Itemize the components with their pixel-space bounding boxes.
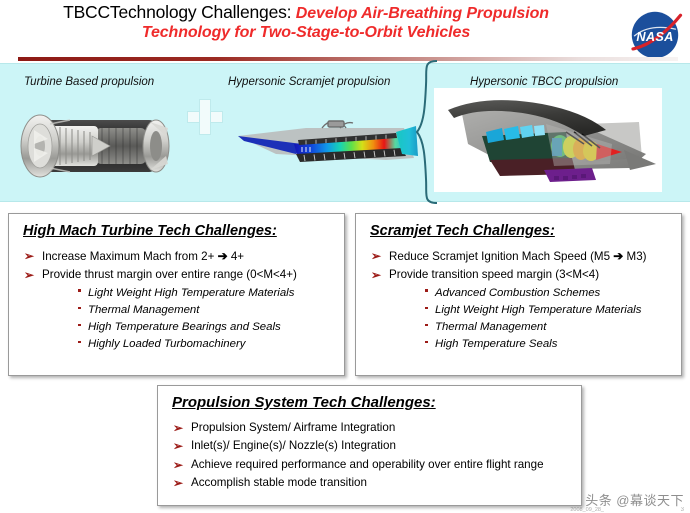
arrow-bullet-icon: ➢ — [24, 249, 34, 263]
plus-operator-icon — [188, 100, 222, 134]
bullet-item: ➢ Accomplish stable mode transition — [158, 475, 581, 493]
arrow-bullet-icon: ➢ — [371, 268, 381, 282]
sub-bullet-item: Advanced Combustion Schemes — [389, 285, 681, 302]
bullet-text: Propulsion System/ Airframe Integration — [191, 421, 395, 434]
svg-text:NASA: NASA — [636, 29, 673, 44]
title-line-1: TBCCTechnology Challenges: Develop Air-B… — [0, 2, 612, 24]
sub-bullet-text: High Temperature Bearings and Seals — [88, 321, 281, 333]
arrow-bullet-icon: ➢ — [173, 458, 183, 472]
sub-bullet-item: Light Weight High Temperature Materials — [389, 302, 681, 319]
bullet-item: ➢ Provide thrust margin over entire rang… — [9, 267, 344, 355]
arrow-bullet-icon: ➢ — [173, 439, 183, 453]
dot-bullet-icon — [78, 307, 81, 310]
sub-bullet-text: Highly Loaded Turbomachinery — [88, 338, 245, 350]
bullet-text: Achieve required performance and operabi… — [191, 458, 544, 471]
high-mach-turbine-challenges-box: High Mach Turbine Tech Challenges: ➢ Inc… — [8, 213, 345, 376]
bullet-item: ➢ Increase Maximum Mach from 2+ ➔ 4+ — [9, 248, 344, 267]
dot-bullet-icon — [78, 324, 81, 327]
sub-bullet-item: High Temperature Seals — [389, 336, 681, 353]
bullet-text: Reduce Scramjet Ignition Mach Speed (M5 — [389, 250, 613, 263]
bullet-text: Accomplish stable mode transition — [191, 476, 367, 489]
dot-bullet-icon — [425, 289, 428, 292]
slide-title: TBCCTechnology Challenges: Develop Air-B… — [0, 2, 612, 43]
sub-bullet-text: Advanced Combustion Schemes — [435, 287, 600, 299]
bullet-text: Inlet(s)/ Engine(s)/ Nozzle(s) Integrati… — [191, 439, 396, 452]
tbcc-vehicle-image — [434, 88, 662, 192]
bullet-item: ➢ Provide transition speed margin (3<M<4… — [356, 267, 681, 355]
sub-bullet-text: Light Weight High Temperature Materials — [435, 304, 641, 316]
right-arrow-icon: ➔ — [613, 249, 623, 263]
dot-bullet-icon — [425, 324, 428, 327]
title-line-2: Technology for Two-Stage-to-Orbit Vehicl… — [0, 24, 612, 43]
sub-bullet-item: Thermal Management — [389, 319, 681, 336]
sub-bullet-text: Light Weight High Temperature Materials — [88, 287, 294, 299]
arrow-bullet-icon: ➢ — [173, 476, 183, 490]
bullet-item: ➢ Reduce Scramjet Ignition Mach Speed (M… — [356, 248, 681, 267]
bullet-text: Provide thrust margin over entire range … — [42, 268, 297, 281]
scramjet-cfd-image — [236, 114, 420, 176]
bullet-text: Increase Maximum Mach from 2+ — [42, 250, 218, 263]
sub-bullet-item: Light Weight High Temperature Materials — [42, 285, 344, 302]
title-text-accent-2: Technology for Two-Stage-to-Orbit Vehicl… — [142, 24, 470, 41]
sub-bullet-item: Thermal Management — [42, 302, 344, 319]
bullet-list-turbine: ➢ Increase Maximum Mach from 2+ ➔ 4+ ➢ P… — [9, 248, 344, 356]
sub-bullet-text: High Temperature Seals — [435, 338, 557, 350]
sub-bullet-text: Thermal Management — [88, 304, 199, 316]
bullet-list-system: ➢ Propulsion System/ Airframe Integratio… — [158, 420, 581, 494]
dot-bullet-icon — [425, 341, 428, 344]
title-divider-rule — [18, 57, 678, 61]
box-heading-scramjet: Scramjet Tech Challenges: — [370, 223, 681, 239]
propulsion-system-challenges-box: Propulsion System Tech Challenges: ➢ Pro… — [157, 385, 582, 506]
box-heading-system: Propulsion System Tech Challenges: — [172, 394, 581, 411]
slide-canvas: TBCCTechnology Challenges: Develop Air-B… — [0, 0, 690, 513]
sub-bullet-text: Thermal Management — [435, 321, 546, 333]
sub-bullet-list: Light Weight High Temperature Materials … — [42, 285, 344, 354]
bullet-item: ➢ Inlet(s)/ Engine(s)/ Nozzle(s) Integra… — [158, 438, 581, 456]
dot-bullet-icon — [78, 289, 81, 292]
arrow-bullet-icon: ➢ — [371, 249, 381, 263]
propulsion-image-band: Turbine Based propulsion Hypersonic Scra… — [0, 63, 690, 202]
bullet-item: ➢ Achieve required performance and opera… — [158, 457, 581, 475]
turbofan-engine-image — [10, 106, 182, 184]
dot-bullet-icon — [425, 307, 428, 310]
right-arrow-icon: ➔ — [218, 249, 228, 263]
scramjet-challenges-box: Scramjet Tech Challenges: ➢ Reduce Scram… — [355, 213, 682, 376]
arrow-bullet-icon: ➢ — [173, 421, 183, 435]
title-text-primary: TBCCTechnology Challenges: — [63, 2, 291, 22]
nasa-logo-icon: NASA — [626, 6, 684, 64]
bullet-text: Provide transition speed margin (3<M<4) — [389, 268, 599, 281]
sub-bullet-item: Highly Loaded Turbomachinery — [42, 336, 344, 353]
box-heading-turbine: High Mach Turbine Tech Challenges: — [23, 223, 344, 239]
bullet-item: ➢ Propulsion System/ Airframe Integratio… — [158, 420, 581, 438]
watermark-text: 头条 @幕谈天下 — [585, 490, 684, 509]
dot-bullet-icon — [78, 341, 81, 344]
bullet-list-scramjet: ➢ Reduce Scramjet Ignition Mach Speed (M… — [356, 248, 681, 356]
caption-hypersonic-tbcc-propulsion: Hypersonic TBCC propulsion — [470, 76, 618, 88]
caption-hypersonic-scramjet-propulsion: Hypersonic Scramjet propulsion — [228, 76, 390, 88]
title-text-accent-1: Develop Air-Breathing Propulsion — [296, 5, 549, 22]
caption-turbine-based-propulsion: Turbine Based propulsion — [24, 76, 154, 88]
sub-bullet-item: High Temperature Bearings and Seals — [42, 319, 344, 336]
arrow-bullet-icon: ➢ — [24, 268, 34, 282]
bullet-text-after: M3) — [623, 250, 646, 263]
sub-bullet-list: Advanced Combustion Schemes Light Weight… — [389, 285, 681, 354]
bullet-text-after: 4+ — [228, 250, 244, 263]
